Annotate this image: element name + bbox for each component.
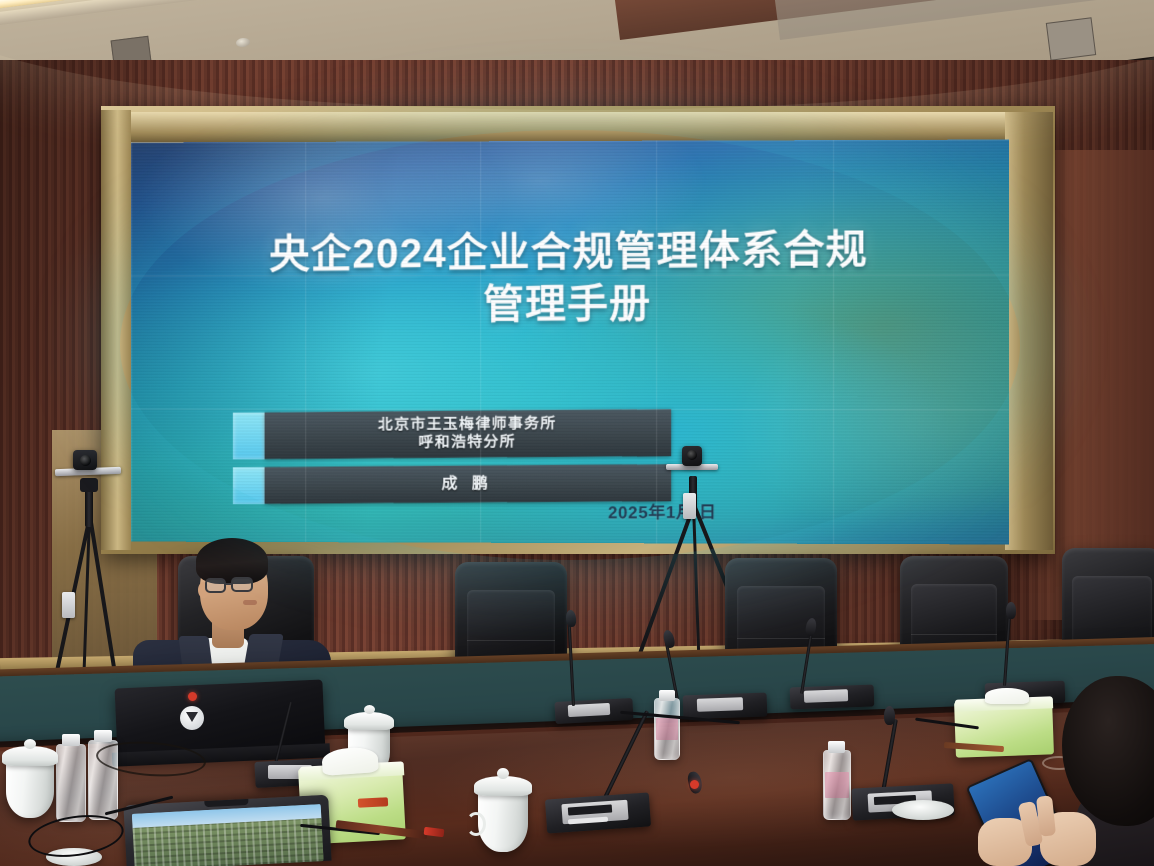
bottle-back-1-label — [656, 718, 678, 740]
ceiling-speaker — [1046, 17, 1096, 60]
org-accent-bar — [233, 412, 265, 459]
presenter-mouth — [243, 600, 257, 605]
teacup-left-knob — [24, 739, 36, 749]
mic-back-1-panel — [697, 697, 743, 712]
slide-org-box: 北京市王玉梅律师事务所 呼和浩特分所 — [265, 409, 672, 458]
slide-date: 2025年1月 日 — [608, 497, 910, 524]
bottle-back-2-cap — [828, 741, 845, 753]
presenter-accent-bar — [233, 467, 265, 505]
slide-title-line-1: 央企2024企业合规管理体系合规 — [137, 223, 1003, 282]
tripod-left-head — [80, 478, 98, 492]
tissue-box-left-logo — [358, 797, 388, 808]
slide-title: 央企2024企业合规管理体系合规 管理手册 — [131, 223, 1009, 333]
saucer-right — [892, 800, 954, 820]
slide-org-row: 北京市王玉梅律师事务所 呼和浩特分所 — [233, 409, 671, 459]
presenter-glasses-right-lens — [231, 577, 253, 592]
tripod-center-phone-clamp — [683, 493, 696, 519]
screen-frame-top-bevel — [116, 112, 1040, 142]
screen-frame-right-bevel — [1005, 112, 1053, 550]
chair-4-seam — [911, 634, 997, 635]
tripod-center-camera-lens — [687, 450, 697, 460]
screen-frame-left-bevel — [101, 110, 131, 550]
mic-front-1-indicator — [690, 780, 699, 789]
teacup-front-center-handle — [466, 812, 486, 836]
tripod-left-column — [85, 487, 93, 527]
mic-back-4-capsule — [1006, 602, 1016, 619]
mic-front-2-capsule — [884, 706, 895, 725]
teacup-front-center-knob — [497, 768, 509, 779]
tripod-left-camera-lens — [80, 455, 91, 466]
led-video-wall[interactable]: 央企2024企业合规管理体系合规 管理手册 北京市王玉梅律师事务所 呼和浩特分所… — [131, 140, 1009, 545]
teacup-center-back-lid — [344, 712, 394, 730]
laptop-presenter-logo-mark — [186, 712, 198, 722]
teacup-center-back-knob — [364, 705, 375, 714]
teacup-left-lid — [2, 746, 58, 766]
slide-title-line-2: 管理手册 — [137, 275, 1003, 333]
laptop-foreground[interactable] — [123, 795, 331, 866]
bottle-left-2-cap — [94, 730, 112, 742]
slide-presenter-row: 成 鹏 — [233, 464, 671, 504]
bottle-left-1-body — [56, 744, 86, 822]
chair-2-cushion — [467, 590, 555, 662]
bottle-back-1-cap — [659, 690, 675, 701]
bottle-left-1-cap — [62, 734, 80, 746]
tissue-box-right-sheet — [985, 688, 1029, 704]
mic-back-2-panel — [804, 689, 848, 703]
presenter-glasses-left-lens — [205, 578, 226, 593]
bottle-back-2-label — [825, 772, 849, 798]
presenter-glasses-bridge — [226, 583, 232, 585]
slide-org-line-2: 呼和浩特分所 — [274, 433, 661, 454]
laptop-presenter-indicator-light — [188, 692, 197, 701]
laptop-foreground-screen[interactable] — [132, 804, 324, 866]
conference-room-photo: 央企2024企业合规管理体系合规 管理手册 北京市王玉梅律师事务所 呼和浩特分所… — [0, 0, 1154, 866]
teacup-left-body — [6, 760, 54, 818]
teacup-front-center-lid — [474, 776, 532, 796]
slide-subtitle-group: 北京市王玉梅律师事务所 呼和浩特分所 成 鹏 — [233, 409, 671, 512]
tripod-left-clamp — [62, 592, 75, 618]
chair-2-seam — [467, 640, 555, 641]
